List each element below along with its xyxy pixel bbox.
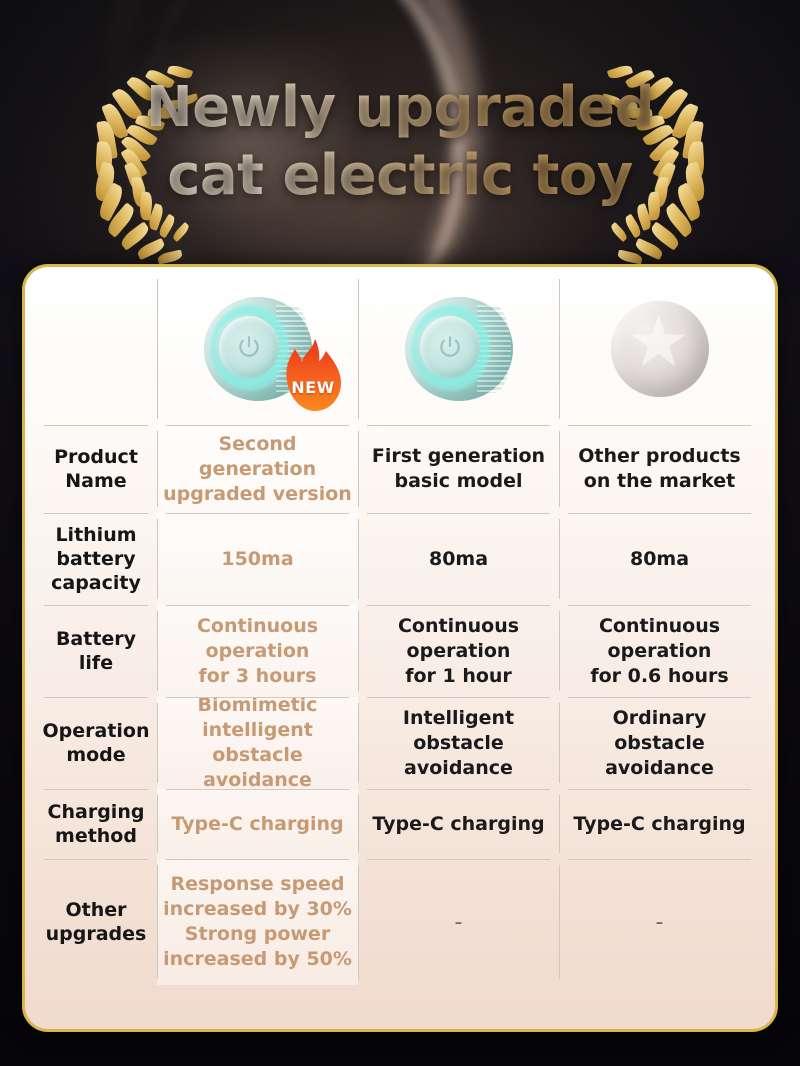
row-label-other-upgrades: Otherupgrades [35, 859, 157, 985]
new-flame-badge: NEW [282, 337, 344, 413]
row-label-operation-mode: Operationmode [35, 697, 157, 789]
star-icon [631, 315, 687, 369]
product-image-cell-1: NEW [157, 273, 358, 425]
laurel-leaf [136, 238, 166, 260]
cell-other-upgrades-col2: - [358, 859, 559, 985]
row-label-product-name: ProductName [35, 425, 157, 513]
laurel-leaf [633, 238, 663, 260]
laurel-leaf [171, 222, 191, 242]
table-row-charging-method: Chargingmethod Type-C charging Type-C ch… [35, 789, 765, 859]
cell-product-name-col3: Other productson the market [559, 425, 760, 513]
ball-face [420, 316, 480, 378]
product-ball-teal [405, 297, 513, 401]
product-ball-grey [611, 301, 709, 397]
row-label-empty [35, 273, 157, 425]
new-badge-label: NEW [282, 378, 344, 397]
comparison-table: NEW [25, 267, 775, 1029]
title-line-1: Newly upgraded [0, 74, 800, 142]
laurel-leaf [157, 213, 177, 238]
product-image-cell-2 [358, 273, 559, 425]
product-image-cell-3 [559, 273, 760, 425]
cell-battery-capacity-col2: 80ma [358, 513, 559, 605]
cell-product-name-col1: Second generationupgraded version [157, 425, 358, 513]
table-row-battery-capacity: Lithiumbatterycapacity 150ma 80ma 80ma [35, 513, 765, 605]
flame-icon [286, 339, 341, 411]
table-row-product-name: ProductName Second generationupgraded ve… [35, 425, 765, 513]
laurel-leaf [157, 250, 183, 265]
power-icon [236, 334, 262, 360]
title-line-2: cat electric toy [0, 142, 800, 210]
table-row-battery-life: Batterylife Continuousoperationfor 3 hou… [35, 605, 765, 697]
ball-face [219, 316, 279, 378]
cell-product-name-col2: First generationbasic model [358, 425, 559, 513]
laurel-leaf [649, 221, 682, 250]
power-icon [437, 334, 463, 360]
row-label-battery-life: Batterylife [35, 605, 157, 697]
row-label-charging-method: Chargingmethod [35, 789, 157, 859]
cell-other-upgrades-col1: Response speedincreased by 30%Strong pow… [157, 859, 358, 985]
cell-operation-mode-col3: Ordinaryobstacleavoidance [559, 697, 760, 789]
row-label-battery-capacity: Lithiumbatterycapacity [35, 513, 157, 605]
table-row-other-upgrades: Otherupgrades Response speedincreased by… [35, 859, 765, 985]
cell-charging-method-col3: Type-C charging [559, 789, 760, 859]
laurel-leaf [609, 222, 629, 242]
cell-battery-capacity-col1: 150ma [157, 513, 358, 605]
table-row-images: NEW [35, 273, 765, 425]
laurel-leaf [617, 250, 643, 265]
laurel-leaf [118, 221, 151, 250]
cell-operation-mode-col2: Intelligentobstacleavoidance [358, 697, 559, 789]
laurel-leaf [622, 213, 642, 238]
infographic-page: Newly upgraded cat electric toy [0, 0, 800, 1066]
cell-battery-capacity-col3: 80ma [559, 513, 760, 605]
cell-operation-mode-col1: Biomimeticintelligentobstacle avoidance [157, 697, 358, 789]
cell-battery-life-col3: Continuousoperationfor 0.6 hours [559, 605, 760, 697]
cell-battery-life-col2: Continuousoperationfor 1 hour [358, 605, 559, 697]
cell-charging-method-col1: Type-C charging [157, 789, 358, 859]
cell-battery-life-col1: Continuousoperationfor 3 hours [157, 605, 358, 697]
cell-charging-method-col2: Type-C charging [358, 789, 559, 859]
table-row-operation-mode: Operationmode Biomimeticintelligentobsta… [35, 697, 765, 789]
comparison-card: NEW [22, 264, 778, 1032]
page-title: Newly upgraded cat electric toy [0, 74, 800, 210]
cell-other-upgrades-col3: - [559, 859, 760, 985]
